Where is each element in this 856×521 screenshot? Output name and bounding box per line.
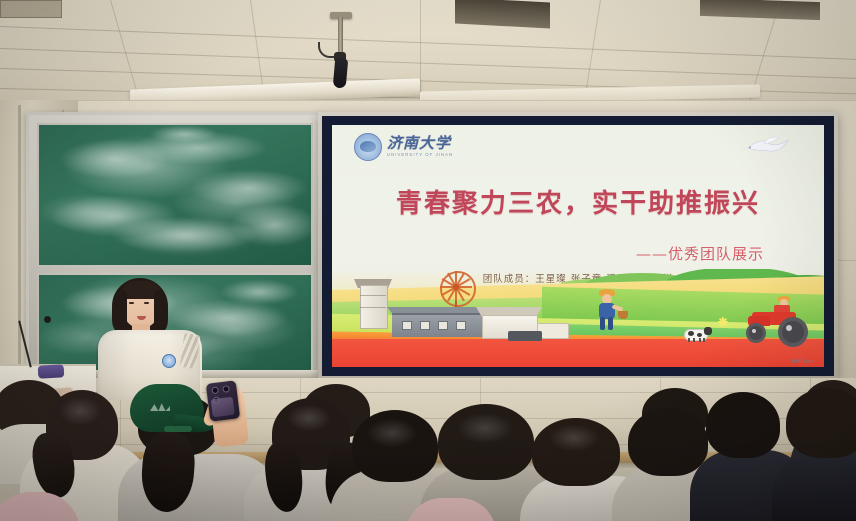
chalk-smear — [219, 279, 299, 305]
cow-leg — [699, 338, 701, 342]
cow-leg — [703, 338, 705, 342]
red-tractor — [744, 303, 810, 337]
dove-bird-illustration — [746, 135, 790, 157]
classroom-presentation-scene: 济南大学 UNIVERSITY OF JINAN 青春聚力三农，实干助推振兴 —… — [0, 0, 856, 521]
hair-highlight — [548, 424, 600, 452]
wall-seam — [0, 100, 856, 101]
field-red — [332, 339, 824, 367]
cow-head — [704, 327, 712, 335]
farmer-leg — [600, 317, 605, 330]
water-tower-band — [360, 307, 386, 308]
farmer-leg — [608, 317, 613, 330]
ceiling-dark-panel-right — [700, 0, 820, 20]
purple-pouch — [38, 364, 65, 378]
barn-window — [438, 321, 448, 330]
barn-window — [456, 321, 466, 330]
phone-camera-lens — [211, 386, 219, 394]
slide-title: 青春聚力三农，实干助推振兴 — [332, 183, 824, 220]
audience-head — [786, 388, 856, 458]
ceiling-dark-panel — [455, 0, 550, 28]
presenter-eye-left — [129, 302, 134, 304]
tractor-rear-wheel — [778, 317, 808, 347]
ceiling-vent — [0, 0, 62, 18]
university-logo: 济南大学 UNIVERSITY OF JINAN — [354, 133, 453, 161]
university-logo-text: 济南大学 UNIVERSITY OF JINAN — [387, 136, 453, 157]
university-emblem-icon — [354, 133, 382, 161]
rural-countryside-illustration — [332, 269, 824, 367]
windmill-hub — [453, 284, 459, 290]
university-name-en: UNIVERSITY OF JINAN — [387, 153, 453, 157]
ceiling-tile-line — [0, 26, 856, 62]
slide-subtitle: ——优秀团队展示 — [636, 243, 764, 264]
hair-highlight — [58, 396, 102, 426]
chalk-smear — [149, 125, 219, 143]
presenter-eye-right — [144, 302, 149, 304]
phone-camera-lens — [222, 385, 230, 393]
university-name-cn: 济南大学 — [387, 136, 453, 151]
hair-highlight — [366, 418, 418, 448]
wall-corner-edge — [18, 105, 21, 400]
hair-highlight — [456, 412, 514, 444]
water-tower-band — [360, 295, 386, 296]
farm-truck — [508, 331, 542, 341]
presenter-hair-side-left — [116, 290, 127, 330]
sparkle-icon — [718, 317, 728, 327]
tractor-front-wheel — [746, 323, 766, 343]
cow-leg — [693, 338, 695, 342]
presenter-hair-side-right — [154, 290, 165, 330]
smartphone-recording[interactable] — [206, 380, 240, 421]
chalk-smear — [189, 169, 309, 207]
phone-screen-glow — [211, 397, 235, 418]
presentation-slide[interactable]: 济南大学 UNIVERSITY OF JINAN 青春聚力三农，实干助推振兴 —… — [332, 125, 824, 367]
cow-spot — [697, 333, 702, 337]
cow-figure — [684, 327, 710, 342]
audience-head — [628, 408, 708, 476]
farmer-basket — [618, 311, 628, 319]
cow-spot — [688, 331, 694, 336]
chalkboard-upper-panel[interactable] — [37, 123, 313, 267]
display-brand-label: HiVision — [792, 359, 814, 365]
chalk-smear — [229, 203, 313, 247]
hair-highlight — [286, 404, 332, 432]
green-baseball-cap — [124, 384, 210, 440]
desk-microphone-head — [44, 316, 51, 323]
audience-head — [706, 392, 780, 458]
cap-strap — [164, 426, 192, 432]
windmill-icon — [436, 269, 476, 307]
barn-window — [420, 321, 430, 330]
cow-leg — [688, 338, 690, 342]
barn-window — [402, 321, 412, 330]
farmer-figure — [594, 289, 622, 331]
